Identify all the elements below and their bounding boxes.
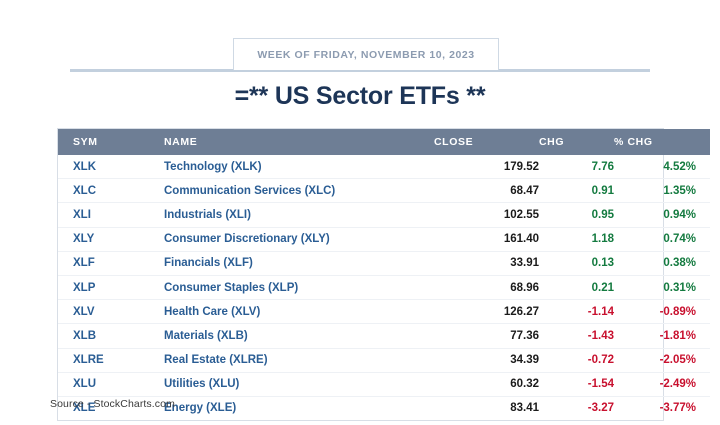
cell-chg: 0.91 xyxy=(539,179,614,203)
cell-close: 68.47 xyxy=(434,179,539,203)
date-badge: WEEK OF FRIDAY, NOVEMBER 10, 2023 xyxy=(233,38,499,70)
table-row[interactable]: XLFFinancials (XLF)33.910.130.38% xyxy=(58,251,710,275)
cell-sym: XLB xyxy=(58,324,148,348)
cell-close: 126.27 xyxy=(434,300,539,324)
cell-name: Real Estate (XLRE) xyxy=(148,348,434,372)
table-row[interactable]: XLREReal Estate (XLRE)34.39-0.72-2.05% xyxy=(58,348,710,372)
cell-sym: XLP xyxy=(58,275,148,299)
cell-close: 77.36 xyxy=(434,324,539,348)
cell-chg: 0.95 xyxy=(539,203,614,227)
cell-pct-chg: 1.35% xyxy=(614,179,710,203)
cell-chg: -1.54 xyxy=(539,372,614,396)
cell-pct-chg: -0.89% xyxy=(614,300,710,324)
cell-sym: XLV xyxy=(58,300,148,324)
page-header: WEEK OF FRIDAY, NOVEMBER 10, 2023 =** US… xyxy=(0,0,720,122)
cell-chg: -1.14 xyxy=(539,300,614,324)
table-row[interactable]: XLIIndustrials (XLI)102.550.950.94% xyxy=(58,203,710,227)
table-header-row: SYM NAME CLOSE CHG % CHG xyxy=(58,129,710,155)
page-title: =** US Sector ETFs ** xyxy=(0,82,720,111)
cell-close: 34.39 xyxy=(434,348,539,372)
cell-pct-chg: -1.81% xyxy=(614,324,710,348)
cell-sym: XLC xyxy=(58,179,148,203)
cell-pct-chg: 0.38% xyxy=(614,251,710,275)
column-header-close[interactable]: CLOSE xyxy=(434,129,539,155)
cell-sym: XLY xyxy=(58,227,148,251)
cell-sym: XLF xyxy=(58,251,148,275)
column-header-name[interactable]: NAME xyxy=(148,129,434,155)
cell-name: Technology (XLK) xyxy=(148,155,434,179)
cell-chg: 1.18 xyxy=(539,227,614,251)
cell-name: Consumer Discretionary (XLY) xyxy=(148,227,434,251)
cell-name: Utilities (XLU) xyxy=(148,372,434,396)
cell-pct-chg: 4.52% xyxy=(614,155,710,179)
cell-close: 83.41 xyxy=(434,396,539,420)
cell-name: Financials (XLF) xyxy=(148,251,434,275)
table-row[interactable]: XLUUtilities (XLU)60.32-1.54-2.49% xyxy=(58,372,710,396)
cell-chg: 7.76 xyxy=(539,155,614,179)
cell-pct-chg: 0.74% xyxy=(614,227,710,251)
cell-sym: XLK xyxy=(58,155,148,179)
cell-pct-chg: -2.05% xyxy=(614,348,710,372)
source-note: Source - StockCharts.com xyxy=(50,398,175,410)
cell-close: 60.32 xyxy=(434,372,539,396)
cell-pct-chg: -2.49% xyxy=(614,372,710,396)
table-row[interactable]: XLCCommunication Services (XLC)68.470.91… xyxy=(58,179,710,203)
cell-pct-chg: 0.94% xyxy=(614,203,710,227)
cell-sym: XLRE xyxy=(58,348,148,372)
etf-table-head: SYM NAME CLOSE CHG % CHG xyxy=(58,129,710,155)
cell-pct-chg: 0.31% xyxy=(614,275,710,299)
cell-name: Materials (XLB) xyxy=(148,324,434,348)
table-row[interactable]: XLVHealth Care (XLV)126.27-1.14-0.89% xyxy=(58,300,710,324)
cell-sym: XLI xyxy=(58,203,148,227)
cell-close: 33.91 xyxy=(434,251,539,275)
table-row[interactable]: XLYConsumer Discretionary (XLY)161.401.1… xyxy=(58,227,710,251)
etf-table-container: SYM NAME CLOSE CHG % CHG XLKTechnology (… xyxy=(57,128,664,421)
cell-chg: 0.21 xyxy=(539,275,614,299)
cell-close: 68.96 xyxy=(434,275,539,299)
table-row[interactable]: XLPConsumer Staples (XLP)68.960.210.31% xyxy=(58,275,710,299)
cell-chg: -0.72 xyxy=(539,348,614,372)
date-badge-label: WEEK OF FRIDAY, NOVEMBER 10, 2023 xyxy=(257,49,474,61)
cell-name: Communication Services (XLC) xyxy=(148,179,434,203)
cell-name: Consumer Staples (XLP) xyxy=(148,275,434,299)
cell-pct-chg: -3.77% xyxy=(614,396,710,420)
cell-close: 102.55 xyxy=(434,203,539,227)
cell-chg: -3.27 xyxy=(539,396,614,420)
column-header-sym[interactable]: SYM xyxy=(58,129,148,155)
cell-name: Energy (XLE) xyxy=(148,396,434,420)
column-header-pct-chg[interactable]: % CHG xyxy=(614,129,710,155)
cell-close: 179.52 xyxy=(434,155,539,179)
cell-chg: -1.43 xyxy=(539,324,614,348)
etf-table: SYM NAME CLOSE CHG % CHG XLKTechnology (… xyxy=(58,129,710,420)
cell-name: Health Care (XLV) xyxy=(148,300,434,324)
table-row[interactable]: XLKTechnology (XLK)179.527.764.52% xyxy=(58,155,710,179)
cell-sym: XLU xyxy=(58,372,148,396)
cell-chg: 0.13 xyxy=(539,251,614,275)
column-header-chg[interactable]: CHG xyxy=(539,129,614,155)
cell-close: 161.40 xyxy=(434,227,539,251)
table-row[interactable]: XLBMaterials (XLB)77.36-1.43-1.81% xyxy=(58,324,710,348)
cell-name: Industrials (XLI) xyxy=(148,203,434,227)
etf-table-body: XLKTechnology (XLK)179.527.764.52%XLCCom… xyxy=(58,155,710,420)
